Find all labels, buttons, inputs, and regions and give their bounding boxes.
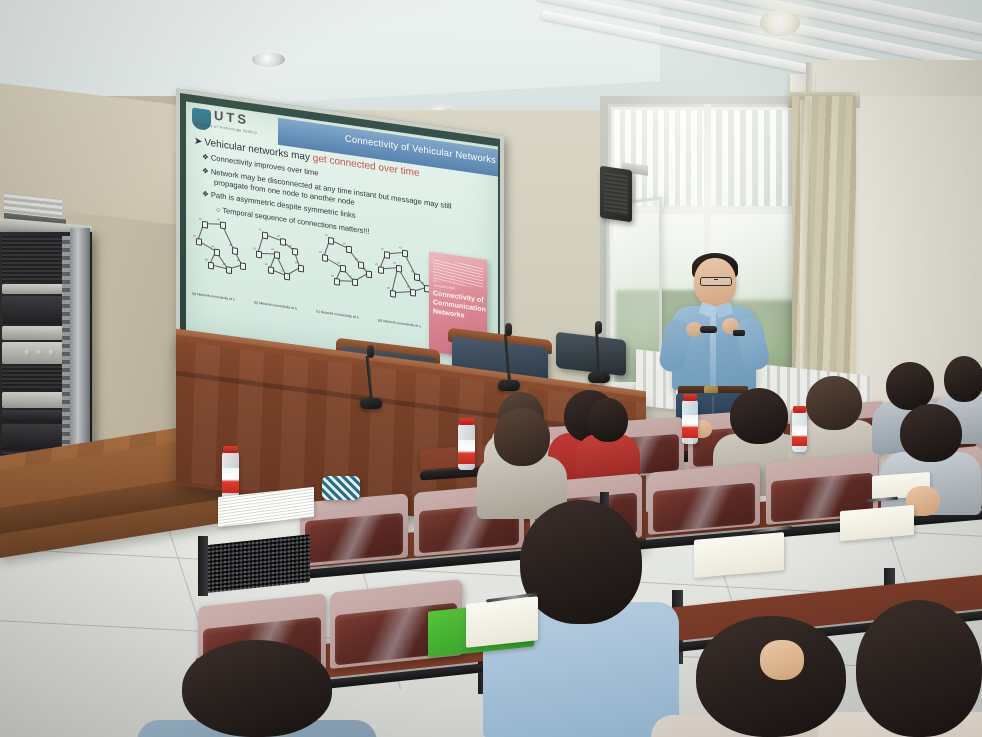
bullet-marker-diamond-icon: ❖ — [202, 189, 209, 199]
ceiling-downlight-icon — [252, 52, 285, 67]
microphone-base — [498, 380, 520, 391]
bottle-label — [458, 440, 475, 464]
network-diagram-panel: v1v2v3v4v5v6v7v8(b) Network connectivity… — [254, 224, 312, 320]
bottle-cap — [683, 394, 697, 401]
network-diagram-panel: v1v2v3v4v5v6v7v8(c) Network connectivity… — [316, 233, 374, 329]
network-node — [280, 238, 286, 246]
audience-member-head — [730, 388, 788, 444]
bottle-cap — [459, 418, 474, 425]
network-node-label: v1 — [325, 234, 328, 237]
audience-member-head — [494, 408, 550, 466]
network-node-label: v5 — [355, 258, 358, 261]
network-diagram-panel: v1v2v3v4v5v6v7v8(a) Network connectivity… — [192, 215, 250, 311]
network-node-label: v5 — [411, 270, 414, 273]
network-node — [352, 278, 358, 286]
network-diagram-panel: v1v2v3v4v5v6v7v8(d) Network connectivity… — [378, 242, 436, 338]
network-node — [268, 266, 274, 274]
network-node — [232, 247, 238, 255]
bullet-marker-diamond-icon: ❖ — [202, 166, 209, 176]
network-node-label: v2 — [277, 235, 280, 238]
network-node — [214, 249, 220, 257]
ceiling-light-lit-icon — [760, 10, 800, 36]
network-node-label: v1 — [381, 248, 384, 251]
network-node-label: v4 — [393, 261, 396, 264]
rack-unit — [2, 284, 64, 294]
network-node-label: v6 — [205, 258, 208, 261]
network-node-label: v3 — [193, 235, 196, 238]
audience-member-head — [944, 356, 982, 402]
network-node-label: v8 — [237, 259, 240, 262]
network-node — [284, 273, 290, 281]
network-node — [402, 250, 408, 258]
network-node-label: v2 — [217, 218, 220, 221]
seat-support-leg — [198, 536, 208, 596]
network-node — [298, 265, 304, 273]
network-node — [256, 251, 262, 259]
speaker-grill-icon — [604, 172, 628, 215]
network-node — [196, 238, 202, 246]
presenter-shirt-placket — [710, 308, 716, 388]
network-node — [202, 221, 208, 229]
network-node — [274, 251, 280, 259]
open-notebook[interactable] — [694, 532, 784, 578]
bottle-cap — [793, 406, 806, 413]
network-node — [322, 254, 328, 262]
network-node — [346, 246, 352, 254]
network-node-label: v6 — [387, 286, 390, 289]
audience-member-front-head — [182, 640, 332, 737]
microphone-base — [588, 372, 610, 383]
rack-knob-icon[interactable] — [48, 349, 55, 356]
network-node-label: v5 — [289, 244, 292, 247]
presenter-wristwatch — [733, 330, 745, 336]
network-node — [292, 248, 298, 256]
rack-unit — [2, 410, 64, 422]
bullet-marker-circle-icon: ○ — [216, 205, 220, 215]
network-node-label: v4 — [271, 248, 274, 251]
bottle-label — [682, 415, 698, 438]
presenter-glasses-bridge — [714, 279, 718, 280]
network-node — [396, 265, 402, 273]
bottle-label — [222, 468, 239, 493]
network-diagram-caption: (b) Network connectivity at t₂ — [254, 300, 297, 310]
network-node-label: v3 — [375, 263, 378, 266]
network-node-label: v7 — [407, 285, 410, 288]
audience-member-head — [886, 362, 934, 410]
network-node — [410, 289, 416, 297]
network-diagram-caption: (d) Network connectivity at t₄ — [378, 318, 421, 328]
bottle-label — [792, 426, 807, 447]
audience-member-front-head — [520, 500, 642, 624]
network-node — [208, 262, 214, 270]
network-node — [262, 231, 268, 239]
presentation-clicker — [700, 326, 717, 333]
network-node — [340, 265, 346, 273]
microphone-head-icon — [505, 323, 512, 336]
curtain-fold — [800, 100, 810, 410]
network-node — [328, 237, 334, 245]
network-node-label: v3 — [253, 247, 256, 250]
bullet-marker-diamond-icon: ❖ — [202, 152, 209, 162]
network-node-label: v7 — [223, 263, 226, 266]
network-node-label: v1 — [199, 217, 202, 220]
network-node — [334, 278, 340, 286]
lecture-hall-photo: UTS University of Technology Sydney Conn… — [0, 0, 982, 737]
network-node — [226, 266, 232, 274]
network-node — [220, 221, 226, 229]
rack-unit — [2, 326, 64, 340]
network-node — [414, 273, 420, 281]
network-node — [240, 262, 246, 270]
network-node-label: v1 — [259, 228, 262, 231]
network-node-label: v5 — [229, 244, 232, 247]
network-node-label: v8 — [421, 281, 424, 284]
network-node-label: v6 — [331, 274, 334, 277]
audience-hand — [760, 640, 804, 680]
open-notebook[interactable] — [466, 596, 538, 648]
network-diagram-caption: (c) Network connectivity at t₃ — [316, 309, 359, 319]
rack-knob-icon[interactable] — [24, 349, 31, 356]
network-node — [378, 266, 384, 274]
microphone-base — [360, 398, 382, 409]
network-node-label: v6 — [265, 263, 268, 266]
network-node — [384, 251, 390, 259]
rack-unit — [2, 296, 64, 324]
network-node-label: v3 — [319, 251, 322, 254]
bullet-marker-arrow-icon: ➤ — [194, 136, 202, 148]
network-node-label: v7 — [349, 275, 352, 278]
rack-unit — [2, 392, 64, 408]
bottle-cap — [223, 446, 238, 453]
pencil-case[interactable] — [322, 476, 360, 500]
network-node-label: v8 — [295, 261, 298, 264]
microphone-head-icon — [595, 321, 602, 334]
rack-knob-icon[interactable] — [36, 349, 43, 356]
network-node — [366, 270, 372, 278]
microphone-head-icon — [367, 345, 374, 358]
rack-unit — [2, 236, 64, 282]
network-node-label: v4 — [337, 261, 340, 264]
seat-panel-reflection — [653, 482, 755, 532]
audience-member-head — [806, 376, 862, 430]
audience-member-head — [588, 398, 628, 442]
audience-member-head — [900, 404, 962, 462]
network-node-label: v4 — [211, 245, 214, 248]
rack-unit — [2, 366, 64, 390]
network-diagram-caption: (a) Network connectivity at t₁ — [192, 291, 235, 301]
network-node-label: v8 — [363, 267, 366, 270]
network-node-label: v7 — [281, 269, 284, 272]
network-node-label: v2 — [399, 246, 402, 249]
rack-unit — [2, 424, 64, 450]
network-node-label: v2 — [343, 242, 346, 245]
network-node — [390, 290, 396, 298]
audience-member-front-head — [856, 600, 982, 737]
